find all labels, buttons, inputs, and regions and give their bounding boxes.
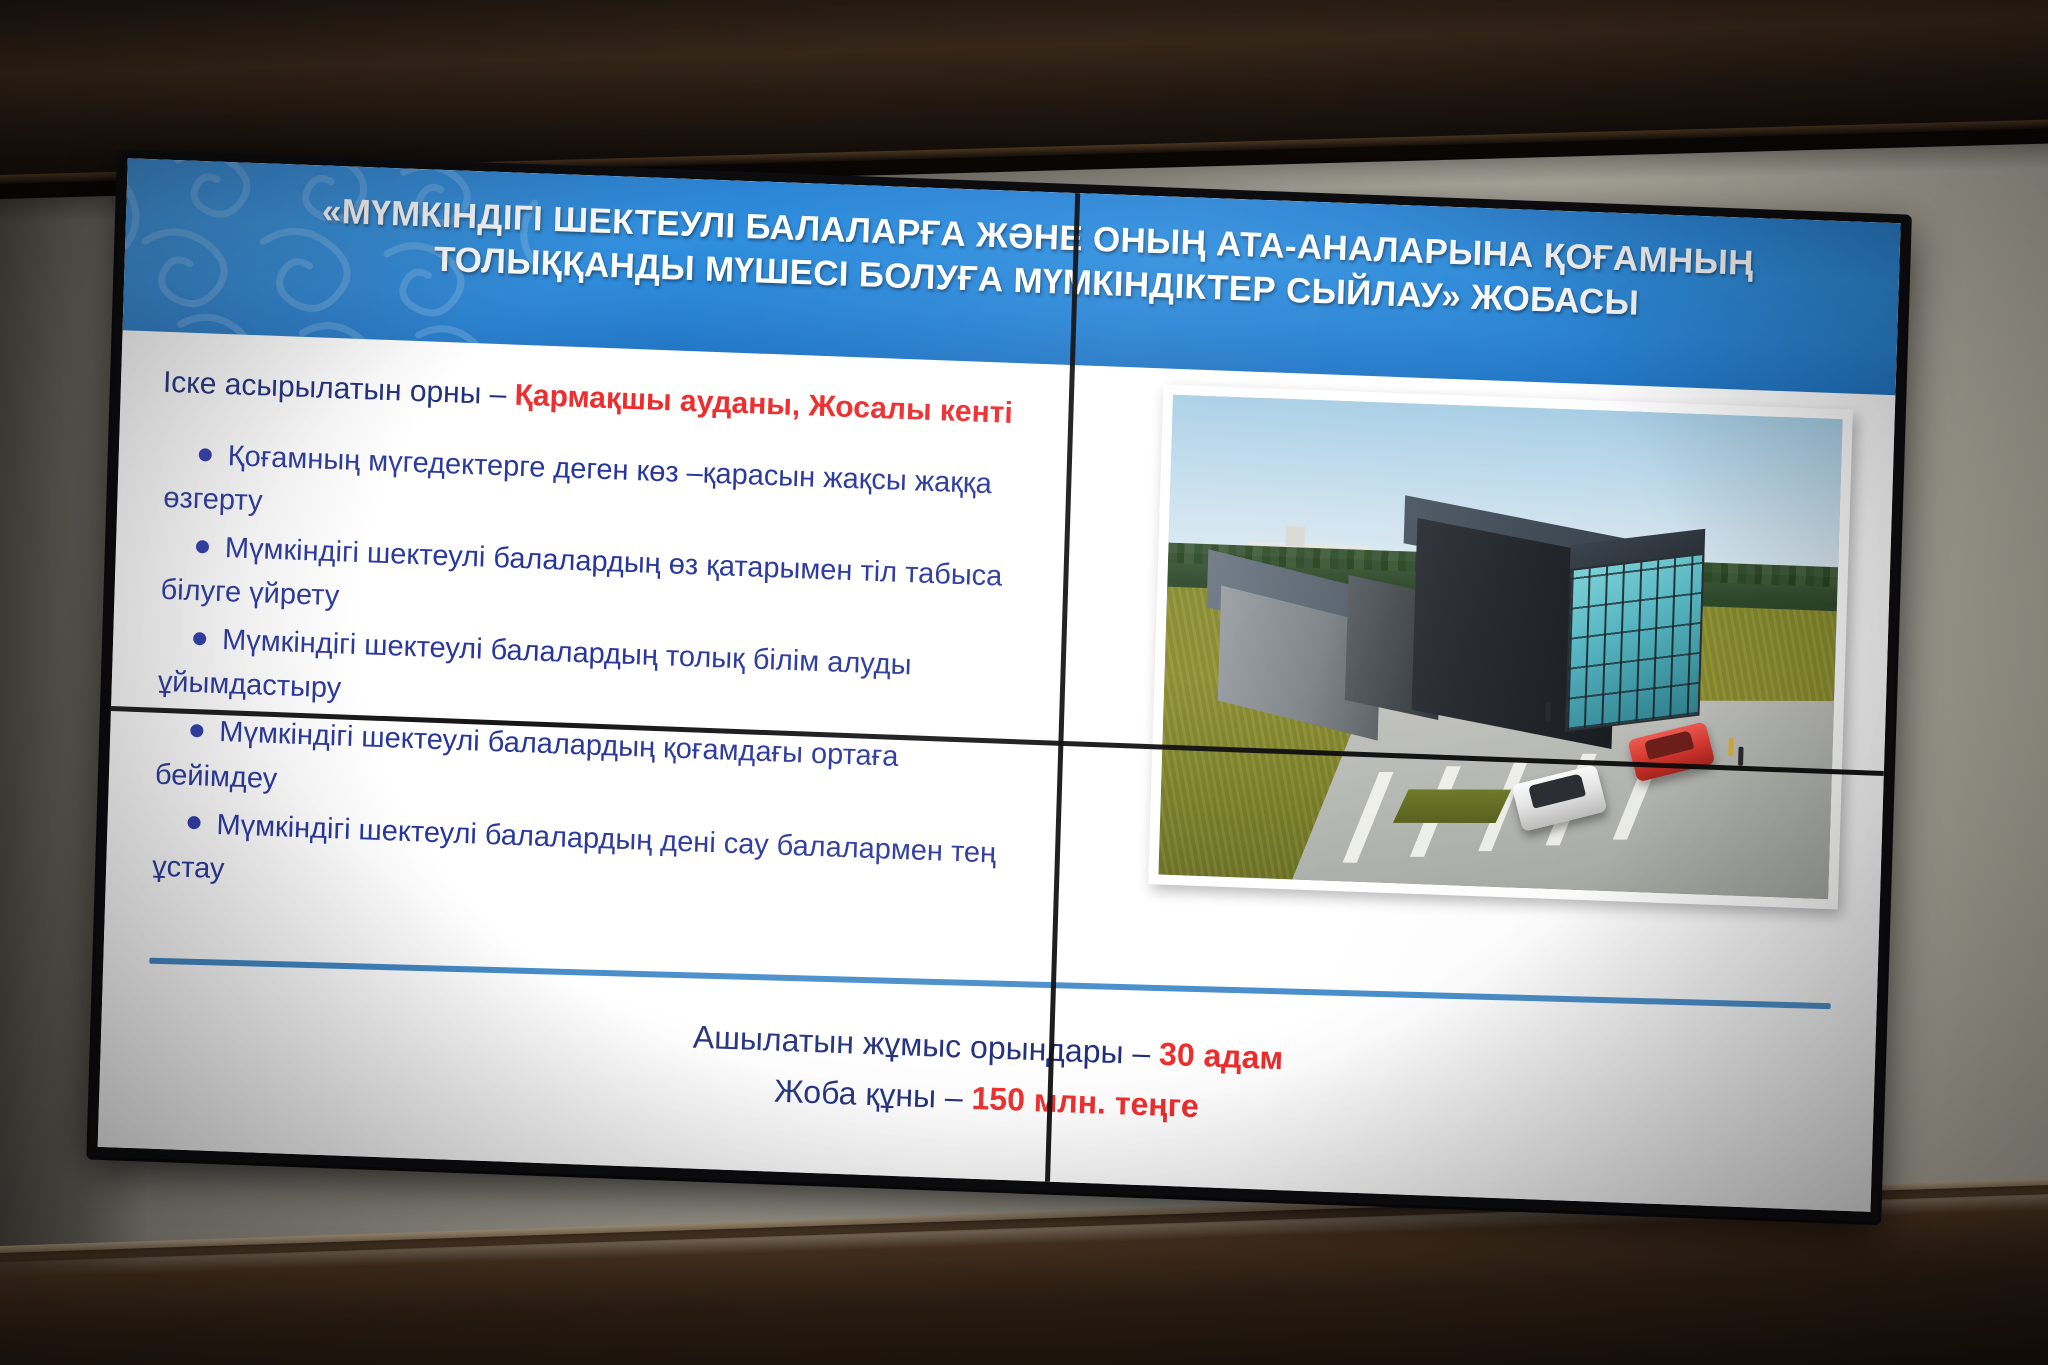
jobs-label: Ашылатын жұмыс орындары –	[692, 1019, 1159, 1072]
cost-value: 150 млн. теңге	[971, 1080, 1199, 1124]
render-parking-stripe	[1342, 771, 1393, 862]
cost-label: Жоба құны –	[774, 1073, 972, 1116]
objectives-list: Қоғамның мүгедектерге деген көз –қарасын…	[151, 432, 1025, 924]
render-person	[1738, 747, 1744, 766]
bullet-dot-icon	[187, 816, 200, 829]
slide-body: Іске асырылатын орны – Қармақшы ауданы, …	[98, 330, 1896, 1212]
jobs-value: 30 адам	[1159, 1036, 1284, 1077]
building-3d-render-image	[1158, 395, 1842, 899]
video-wall-screen: «МҮМКІНДІГІ ШЕКТЕУЛІ БАЛАЛАРҒА ЖӘНЕ ОНЫҢ…	[98, 158, 1901, 1212]
bullet-dot-icon	[190, 724, 203, 737]
slide-footer: Ашылатын жұмыс орындары – 30 адам Жоба қ…	[99, 990, 1875, 1157]
bullet-dot-icon	[199, 448, 212, 461]
bullet-dot-icon	[196, 540, 209, 553]
render-person-highvis	[1728, 737, 1734, 756]
list-item-text: Мүмкіндігі шектеулі балалардың толық біл…	[157, 624, 912, 704]
presentation-slide: «МҮМКІНДІГІ ШЕКТЕУЛІ БАЛАЛАРҒА ЖӘНЕ ОНЫҢ…	[98, 158, 1901, 1212]
video-wall[interactable]: «МҮМКІНДІГІ ШЕКТЕУЛІ БАЛАЛАРҒА ЖӘНЕ ОНЫҢ…	[89, 152, 1909, 1222]
render-green-median	[1393, 789, 1511, 822]
bullet-dot-icon	[193, 632, 206, 645]
render-glass-facade	[1565, 553, 1705, 732]
conference-room: «МҮМКІНДІГІ ШЕКТЕУЛІ БАЛАЛАРҒА ЖӘНЕ ОНЫҢ…	[0, 0, 2048, 1365]
implementation-place: Іске асырылатын орны – Қармақшы ауданы, …	[162, 366, 1013, 431]
building-render-frame	[1148, 384, 1853, 909]
list-item-text: Қоғамның мүгедектерге деген көз –қарасын…	[163, 440, 992, 517]
list-item-text: Мүмкіндігі шектеулі балалардың қоғамдағы…	[155, 716, 899, 794]
render-person	[1545, 701, 1551, 720]
implementation-place-label: Іске асырылатын орны –	[162, 366, 515, 412]
implementation-place-value: Қармақшы ауданы, Жосалы кенті	[514, 379, 1013, 430]
